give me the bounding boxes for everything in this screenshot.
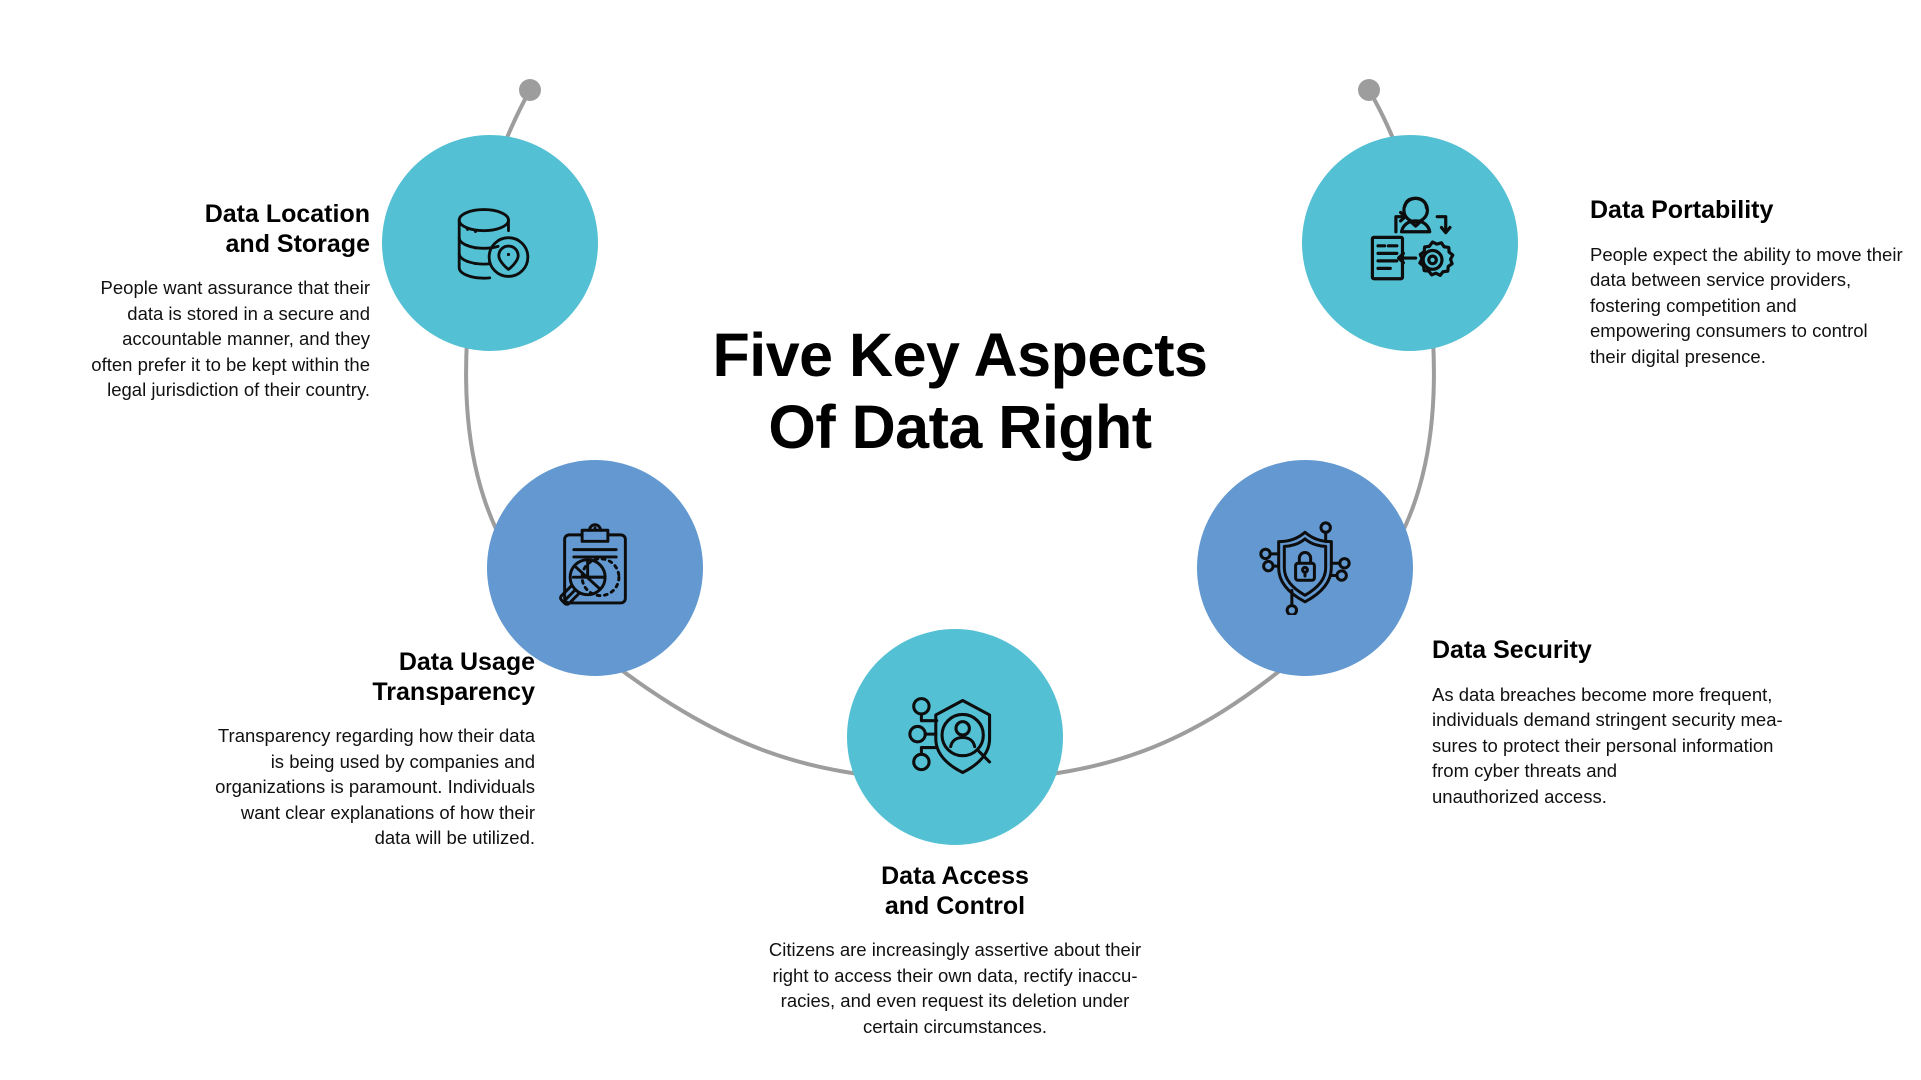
body-data-access-and-control: Citizens are increasingly assertive abou… [740, 937, 1170, 1039]
heading-data-access-and-control: Data Access and Control [740, 862, 1170, 921]
body-data-location-and-storage: People want assurance that their data is… [40, 275, 370, 403]
node-data-security[interactable] [1197, 460, 1413, 676]
person-gear-document-icon [1363, 196, 1457, 290]
connector-endpoint-dot-left [519, 79, 541, 101]
body-data-security: As data breaches become more frequent, i… [1432, 682, 1832, 810]
heading-data-location-and-storage: Data Location and Storage [40, 200, 370, 259]
database-location-icon [446, 199, 534, 287]
node-data-access-and-control[interactable] [847, 629, 1063, 845]
connector-endpoint-dot-right [1358, 79, 1380, 101]
heading-data-portability: Data Portability [1590, 196, 1921, 226]
block-data-location-and-storage: Data Location and Storage People want as… [40, 200, 370, 403]
heading-data-usage-transparency: Data Usage Transparency [140, 648, 535, 707]
heading-data-security: Data Security [1432, 636, 1832, 666]
block-data-usage-transparency: Data Usage Transparency Transparency reg… [140, 648, 535, 851]
shield-user-search-icon [907, 689, 1003, 785]
page-title: Five Key Aspects Of Data Right [660, 320, 1260, 464]
node-data-portability[interactable] [1302, 135, 1518, 351]
block-data-security: Data Security As data breaches become mo… [1432, 636, 1832, 809]
shield-lock-circuit-icon [1258, 521, 1352, 615]
node-data-location-and-storage[interactable] [382, 135, 598, 351]
infographic-canvas: Data Location and Storage People want as… [0, 0, 1921, 1080]
body-data-usage-transparency: Transparency regarding how their data is… [140, 723, 535, 851]
block-data-access-and-control: Data Access and Control Citizens are inc… [740, 862, 1170, 1039]
clipboard-magnifier-icon [549, 522, 641, 614]
node-data-usage-transparency[interactable] [487, 460, 703, 676]
body-data-portability: People expect the ability to move their … [1590, 242, 1921, 370]
block-data-portability: Data Portability People expect the abili… [1590, 196, 1921, 369]
